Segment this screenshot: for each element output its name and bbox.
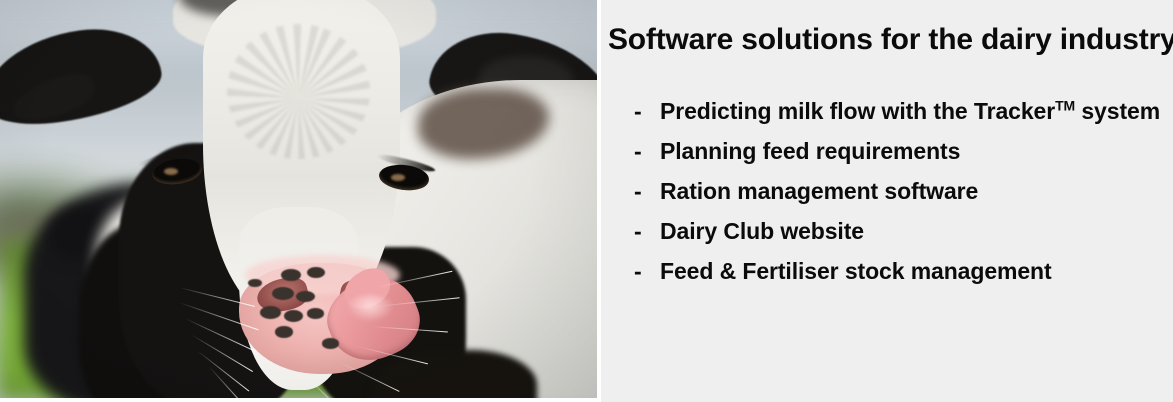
bullet-dash-icon: - [634, 216, 660, 247]
bullet-dash-icon: - [634, 136, 660, 167]
cow-right-eye-glint [391, 174, 405, 181]
list-item: - Ration management software [634, 176, 1173, 207]
bullet-dash-icon: - [634, 176, 660, 207]
slide-root: Software solutions for the dairy industr… [0, 0, 1173, 402]
muzzle-spot [296, 291, 315, 302]
muzzle-spot [275, 326, 293, 337]
list-item-label: Predicting milk flow with the TrackerTM … [660, 96, 1160, 127]
muzzle-spot [307, 267, 325, 278]
list-item: - Dairy Club website [634, 216, 1173, 247]
feature-bullet-list: - Predicting milk flow with the TrackerT… [634, 96, 1173, 296]
muzzle-spot [281, 269, 301, 282]
cow-tongue-highlight [346, 295, 394, 323]
list-item-label: Dairy Club website [660, 216, 864, 247]
list-item: - Feed & Fertiliser stock management [634, 256, 1173, 287]
list-item: - Planning feed requirements [634, 136, 1173, 167]
page-title: Software solutions for the dairy industr… [608, 23, 1173, 57]
list-item-label: Feed & Fertiliser stock management [660, 256, 1052, 287]
bullet-dash-icon: - [634, 256, 660, 287]
muzzle-spot [307, 308, 324, 318]
text-panel: Software solutions for the dairy industr… [601, 0, 1173, 402]
bullet-dash-icon: - [634, 96, 660, 127]
list-item-label: Ration management software [660, 176, 978, 207]
muzzle-spot [272, 287, 295, 301]
dairy-cow-photo [0, 0, 597, 398]
cow-forehead-hair-swirl [227, 24, 370, 159]
trademark-superscript: TM [1055, 97, 1075, 113]
list-item: - Predicting milk flow with the TrackerT… [634, 96, 1173, 127]
muzzle-spot [322, 338, 339, 348]
list-item-text-before: Predicting milk flow with the Tracker [660, 98, 1055, 124]
list-item-text-after: system [1075, 98, 1160, 124]
list-item-label: Planning feed requirements [660, 136, 960, 167]
